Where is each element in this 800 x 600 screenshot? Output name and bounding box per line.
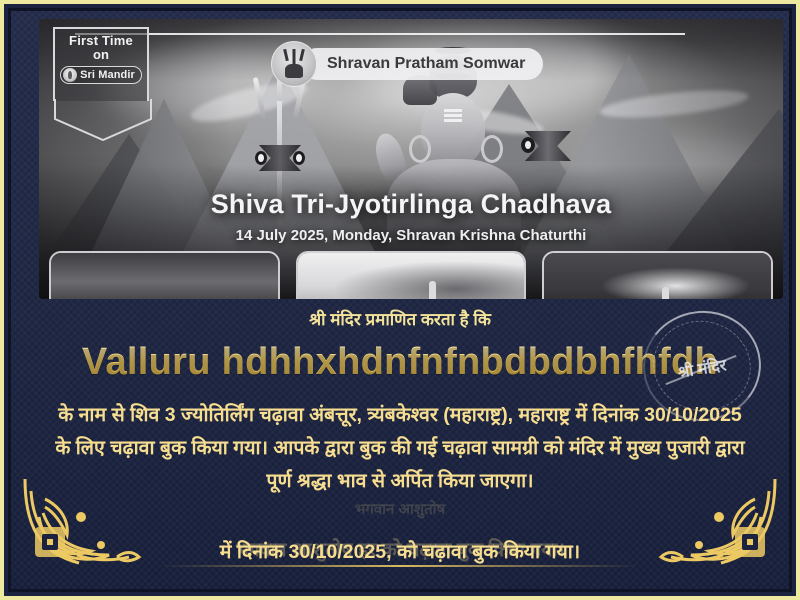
- booking-date-line: में दिनांक 30/10/2025, को चढ़ावा बुक किय…: [49, 537, 751, 567]
- certificate-body: श्री मंदिर प्रमाणित करता है कि Valluru h…: [11, 299, 789, 589]
- first-time-line2: on: [93, 48, 109, 62]
- temple-thumbnail: [49, 251, 280, 299]
- certificate-paragraph: के नाम से शिव 3 ज्योतिर्लिंग चढ़ावा अंबत…: [49, 399, 751, 498]
- sri-mandir-label: Sri Mandir: [80, 69, 135, 81]
- sri-mandir-logo-icon: [63, 68, 77, 82]
- event-banner: First Time on Sri Mandir Shra: [39, 19, 783, 299]
- banner-subtitle: 14 July 2025, Monday, Shravan Krishna Ch…: [39, 227, 783, 244]
- ghost-overlap-text-2: भगवान आशुतोष: [191, 499, 609, 519]
- temple-thumbnail-row: [49, 251, 773, 299]
- banner-top-rule: [75, 33, 685, 35]
- first-time-badge: First Time on Sri Mandir: [53, 27, 149, 101]
- sri-mandir-brand-pill: Sri Mandir: [60, 66, 142, 84]
- trishul-glyph: [293, 49, 296, 64]
- temple-thumbnail: [296, 251, 527, 299]
- shiva-trishul-icon: [271, 41, 317, 87]
- certificate-inner-frame: First Time on Sri Mandir Shra: [8, 8, 792, 592]
- certificate-card: First Time on Sri Mandir Shra: [0, 0, 800, 600]
- event-pill-label: Shravan Pratham Somwar: [327, 55, 525, 73]
- event-pill-group: Shravan Pratham Somwar: [271, 41, 543, 87]
- bottom-divider: [161, 565, 639, 567]
- temple-thumbnail: [542, 251, 773, 299]
- banner-title: Shiva Tri-Jyotirlinga Chadhava: [39, 189, 783, 220]
- event-pill: Shravan Pratham Somwar: [301, 48, 543, 80]
- first-time-line1: First Time: [69, 34, 133, 48]
- lingam-glyph: [285, 64, 303, 78]
- badge-ribbon-tail: [53, 99, 153, 141]
